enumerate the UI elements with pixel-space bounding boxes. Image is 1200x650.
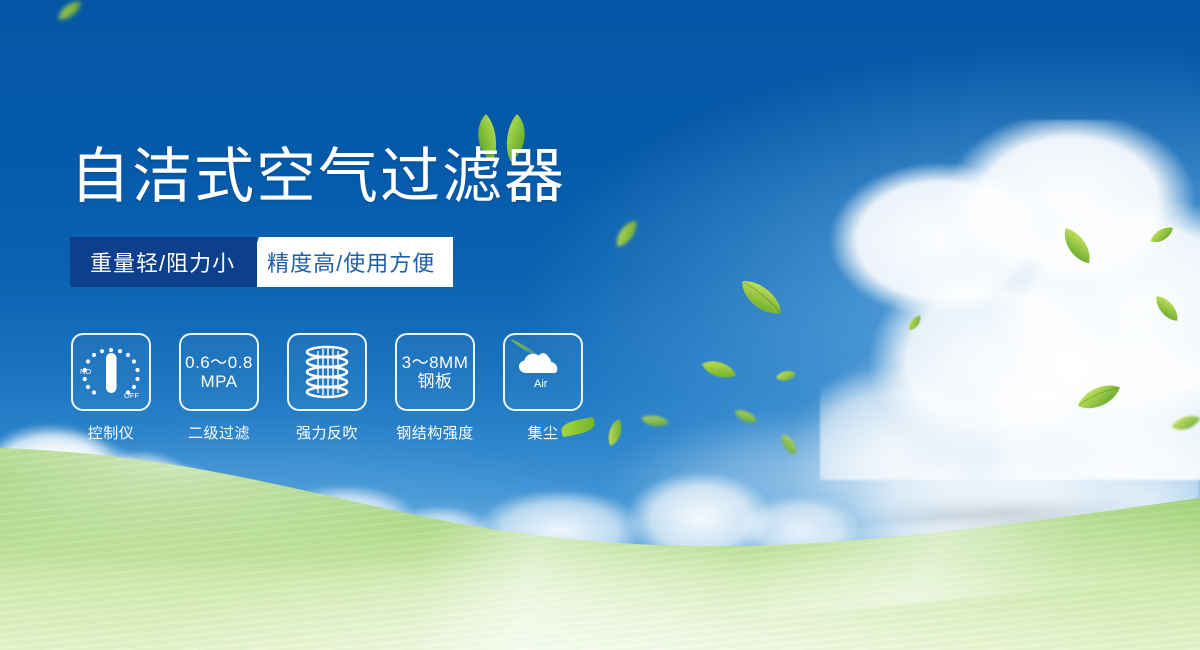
subtitle-left: 重量轻/阻力小 bbox=[70, 237, 257, 287]
dial-gauge-icon: NO OFF bbox=[79, 342, 143, 402]
feature-label: 二级过滤 bbox=[188, 422, 250, 443]
dial-no-label: NO bbox=[80, 367, 91, 376]
feature-item[interactable]: NO OFF 控制仪 bbox=[70, 333, 152, 443]
pressure-unit: MPA bbox=[185, 372, 253, 391]
feature-icon-box: NO OFF bbox=[71, 333, 151, 411]
subtitle-bar: 重量轻/阻力小 精度高/使用方便 bbox=[70, 237, 466, 287]
leaf-accent-icon bbox=[560, 417, 596, 438]
feature-item[interactable]: Air 集尘 bbox=[502, 333, 584, 443]
feature-label: 强力反吹 bbox=[296, 422, 358, 443]
feature-icon-box: Air bbox=[503, 333, 583, 411]
steel-plate-text-icon: 3～8MM 钢板 bbox=[402, 353, 469, 391]
feature-item[interactable]: 3～8MM 钢板 钢结构强度 bbox=[394, 333, 476, 443]
air-cloud-icon: Air bbox=[508, 337, 578, 405]
page-title: 自洁式空气过滤器 bbox=[70, 147, 566, 207]
feature-label: 钢结构强度 bbox=[396, 422, 474, 443]
dial-off-label: OFF bbox=[124, 391, 139, 400]
air-label: Air bbox=[534, 378, 548, 390]
product-banner: 自洁式空气过滤器 重量轻/阻力小 精度高/使用方便 bbox=[0, 0, 1200, 650]
pressure-text-icon: 0.6～0.8 MPA bbox=[185, 353, 253, 391]
feature-list: NO OFF 控制仪 0.6～0.8 MPA 二级过滤 bbox=[70, 333, 584, 443]
steel-material: 钢板 bbox=[402, 372, 469, 391]
feature-label: 集尘 bbox=[527, 422, 558, 443]
feature-item[interactable]: 0.6～0.8 MPA 二级过滤 bbox=[178, 333, 260, 443]
filter-stack-icon bbox=[299, 343, 355, 401]
feature-icon-box bbox=[287, 333, 367, 411]
feature-label: 控制仪 bbox=[88, 422, 135, 443]
steel-thickness: 3～8MM bbox=[402, 353, 469, 372]
subtitle-right: 精度高/使用方便 bbox=[241, 237, 453, 287]
feature-item[interactable]: 强力反吹 bbox=[286, 333, 368, 443]
pressure-range: 0.6～0.8 bbox=[185, 353, 253, 372]
banner-content: 自洁式空气过滤器 重量轻/阻力小 精度高/使用方便 bbox=[0, 0, 1200, 650]
feature-icon-box: 0.6～0.8 MPA bbox=[179, 333, 259, 411]
feature-icon-box: 3～8MM 钢板 bbox=[395, 333, 475, 411]
